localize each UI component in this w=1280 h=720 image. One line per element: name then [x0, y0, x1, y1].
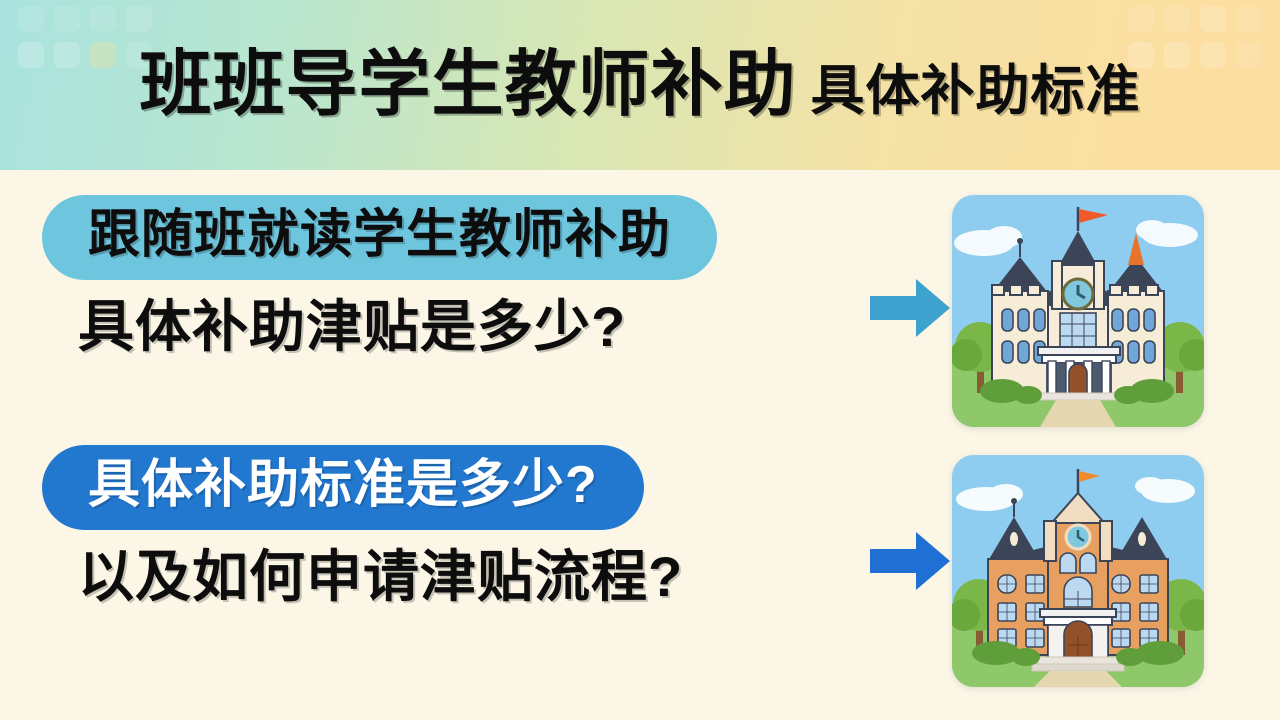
page-title-sub: 具体补助标准	[811, 64, 1141, 118]
arrow-right-light-icon	[868, 275, 952, 341]
school-building-cream-image	[952, 195, 1204, 427]
arrow-right-dark-icon	[868, 528, 952, 594]
caption-2: 以及如何申请津贴流程?	[78, 546, 900, 608]
highlight-pill-1[interactable]: 跟随班就读学生教师补助	[42, 195, 717, 280]
content-stage: 跟随班就读学生教师补助 具体补助津贴是多少? 具体补助标准是多少? 以及如何申请…	[0, 170, 1280, 720]
content-block-1: 跟随班就读学生教师补助 具体补助津贴是多少?	[0, 195, 900, 358]
page-title: 班班导学生教师补助 具体补助标准	[0, 0, 1280, 170]
highlight-pill-1-label: 跟随班就读学生教师补助	[88, 206, 671, 264]
page-title-main: 班班导学生教师补助	[139, 49, 796, 121]
highlight-pill-2-label: 具体补助标准是多少?	[88, 456, 598, 514]
header-band: 班班导学生教师补助 具体补助标准	[0, 0, 1280, 170]
caption-1: 具体补助津贴是多少?	[78, 296, 900, 358]
highlight-pill-2[interactable]: 具体补助标准是多少?	[42, 445, 644, 530]
content-block-2: 具体补助标准是多少? 以及如何申请津贴流程?	[0, 445, 900, 608]
school-building-brick-image	[952, 455, 1204, 687]
